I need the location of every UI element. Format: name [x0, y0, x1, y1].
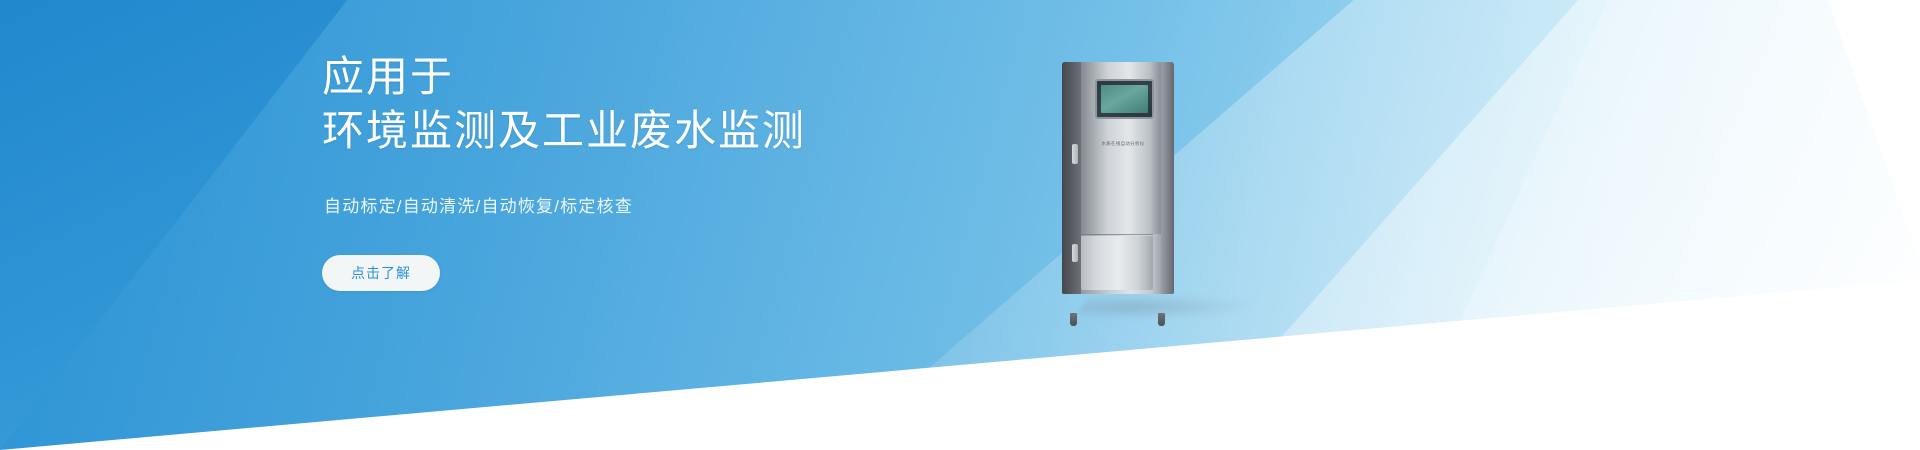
device-panel-seam — [1081, 234, 1153, 235]
page-title: 应用于 环境监测及工业废水监测 — [322, 50, 942, 158]
hero-banner: 应用于 环境监测及工业废水监测 自动标定/自动清洗/自动恢复/标定核查 点击了解… — [0, 0, 1920, 450]
device-lower-cabinet — [1081, 236, 1153, 290]
device-caster-left — [1070, 313, 1077, 326]
device-right-frame — [1161, 62, 1174, 294]
headline-line-2: 环境监测及工业废水监测 — [322, 104, 942, 158]
headline-line-1: 应用于 — [322, 53, 454, 100]
product-shadow — [1073, 294, 1261, 320]
product-image-analyzer: 水质在线自动分析仪 — [1062, 62, 1174, 314]
display-screen-icon — [1095, 79, 1154, 119]
hero-copy-block: 应用于 环境监测及工业废水监测 自动标定/自动清洗/自动恢复/标定核查 点击了解 — [322, 50, 942, 291]
subtitle: 自动标定/自动清洗/自动恢复/标定核查 — [324, 192, 942, 217]
device-model-label: 水质在线自动分析仪 — [1082, 142, 1164, 146]
display-screen-surface — [1101, 85, 1148, 113]
device-caster-right — [1158, 313, 1165, 326]
device-upper-door-handle — [1072, 144, 1078, 164]
device-lower-door-handle — [1072, 244, 1078, 262]
learn-more-button[interactable]: 点击了解 — [322, 255, 440, 291]
